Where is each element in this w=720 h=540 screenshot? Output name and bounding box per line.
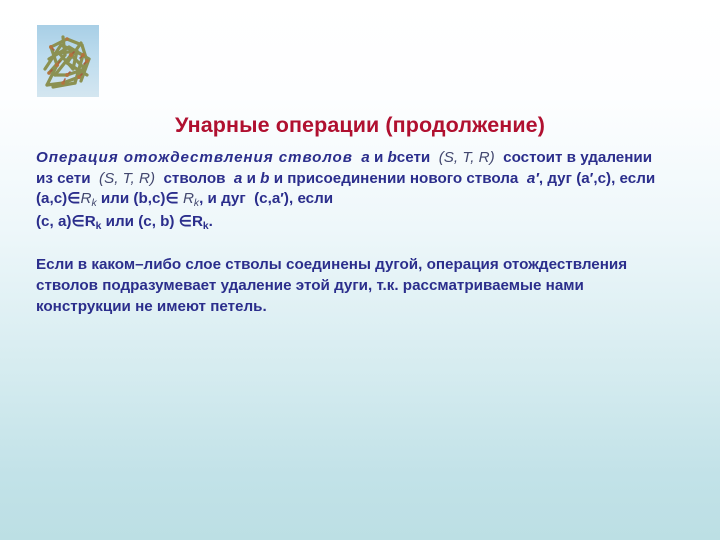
relation-R-2-subscript: k <box>194 198 199 209</box>
var-b-2: b <box>260 170 269 187</box>
word-dug-2: , и дуг <box>199 190 246 207</box>
var-a: a <box>361 149 369 166</box>
word-seti-1: сети <box>397 149 430 166</box>
sentence-period: . <box>209 213 213 230</box>
paragraph-definition: Операция отождествления стволов a и bсет… <box>36 148 656 234</box>
pair-c-b: (c, b) <box>138 213 174 230</box>
var-b: b <box>388 149 397 166</box>
knot-sculpture-photo <box>37 25 99 97</box>
element-of-icon-4: ∈ <box>179 213 192 230</box>
relation-R-1-subscript: k <box>91 198 96 209</box>
var-a-2: a <box>234 170 242 187</box>
var-a-prime: a′ <box>527 170 539 187</box>
pair-c-a: (c, a) <box>36 213 71 230</box>
body-text-block: Операция отождествления стволов a и bсет… <box>36 148 656 317</box>
pair-b-c: (b,c) <box>133 190 165 207</box>
relation-R-1: R <box>80 190 91 207</box>
slide-canvas: Унарные операции (продолжение) Операция … <box>0 0 720 540</box>
sculpture-illustration <box>37 25 99 97</box>
net-triple-1: (S, T, R) <box>439 149 495 166</box>
page-title: Унарные операции (продолжение) <box>0 113 720 138</box>
word-ili-2: или <box>106 213 134 230</box>
element-of-icon-1: ∈ <box>67 190 80 207</box>
relation-R-3-subscript: k <box>96 221 102 232</box>
relation-R-4: R <box>192 213 203 230</box>
pair-c-a-prime: (c,a′) <box>254 190 289 207</box>
conj-i-2: и <box>247 170 256 187</box>
word-stvolov: стволов <box>163 170 225 187</box>
text-lead: Операция отождествления стволов <box>36 149 353 166</box>
element-of-icon-2: ∈ <box>165 190 178 207</box>
element-of-icon-3: ∈ <box>71 213 84 230</box>
net-triple-2: (S, T, R) <box>99 170 155 187</box>
word-ili-1: или <box>101 190 129 207</box>
word-dug-1: , дуг <box>539 170 572 187</box>
pair-a-prime-c: (a′,c) <box>576 170 611 187</box>
paragraph-remark: Если в каком–либо слое стволы соединены … <box>36 255 656 317</box>
conj-i-1: и <box>374 149 383 166</box>
phrase-prisoedinenii: и присоединении нового ствола <box>274 170 519 187</box>
relation-R-2: R <box>183 190 194 207</box>
word-esli-2: , если <box>289 190 333 207</box>
pair-a-c: (a,c) <box>36 190 67 207</box>
relation-R-4-subscript: k <box>203 221 209 232</box>
relation-R-3: R <box>85 213 96 230</box>
word-esli-1: , если <box>611 170 655 187</box>
